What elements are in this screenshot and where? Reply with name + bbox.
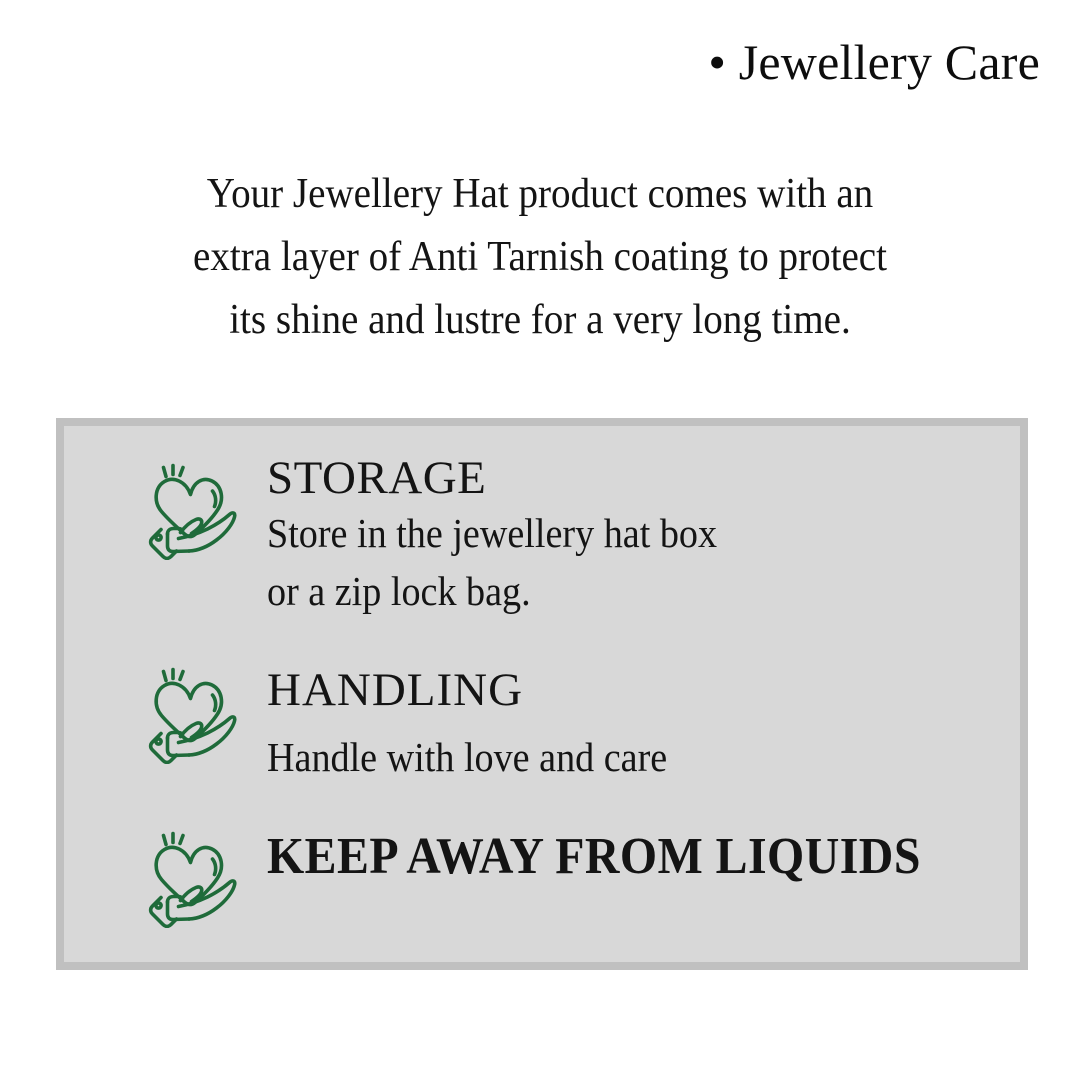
care-instructions-panel: STORAGE Store in the jewellery hat box o… [56,418,1028,970]
heart-in-hand-icon [142,460,242,560]
heart-in-hand-icon [142,664,242,764]
intro-line-2: extra layer of Anti Tarnish coating to p… [94,226,987,289]
care-item-text: HANDLING Handle with love and care [267,658,697,786]
intro-line-3: its shine and lustre for a very long tim… [94,289,987,352]
intro-line-1: Your Jewellery Hat product comes with an [94,163,987,226]
care-item-text: STORAGE Store in the jewellery hat box o… [267,448,751,620]
heart-in-hand-icon [142,828,242,928]
page-title: • Jewellery Care [708,36,1040,89]
care-line-storage-1: Store in the jewellery hat box [267,504,717,562]
care-line-handling-1: Handle with love and care [267,728,667,786]
care-item-handling: HANDLING Handle with love and care [142,658,697,786]
intro-paragraph: Your Jewellery Hat product comes with an… [94,163,987,352]
care-item-liquids: KEEP AWAY FROM LIQUIDS [142,824,978,928]
care-heading-handling: HANDLING [267,664,523,716]
care-item-storage: STORAGE Store in the jewellery hat box o… [142,448,751,620]
care-heading-storage: STORAGE [267,452,486,504]
care-heading-liquids: KEEP AWAY FROM LIQUIDS [267,828,921,886]
care-item-text: KEEP AWAY FROM LIQUIDS [267,824,978,886]
care-line-storage-2: or a zip lock bag. [267,562,717,620]
